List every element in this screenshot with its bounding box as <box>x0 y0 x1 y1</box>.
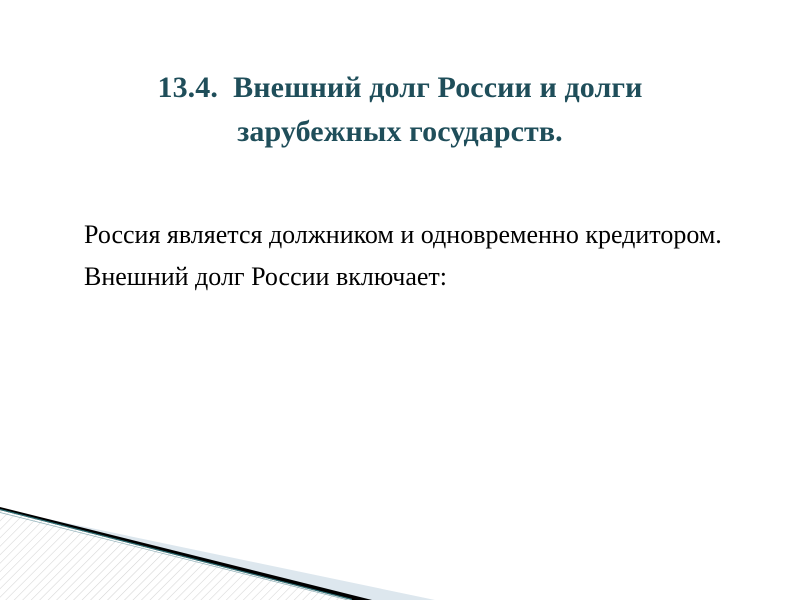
pale-blue-wedge <box>0 509 435 600</box>
slide-title-line-2: зарубежных государств. <box>60 110 740 154</box>
corner-ribbon-decoration <box>0 495 470 600</box>
black-wedge <box>0 507 372 600</box>
slide-title-line-1: 13.4. Внешний долг России и долги <box>60 66 740 110</box>
teal-edge-line-secondary <box>0 513 348 600</box>
body-paragraph-2: Внешний долг России включает: <box>36 256 766 298</box>
hatched-triangle <box>0 510 352 600</box>
slide-canvas: 13.4. Внешний долг России и долги зарубе… <box>0 0 800 600</box>
teal-edge-line <box>0 510 352 600</box>
body-paragraph-1: Россия является должником и одновременно… <box>36 214 766 256</box>
slide-body: Россия является должником и одновременно… <box>36 214 766 298</box>
slide-title: 13.4. Внешний долг России и долги зарубе… <box>60 66 740 154</box>
